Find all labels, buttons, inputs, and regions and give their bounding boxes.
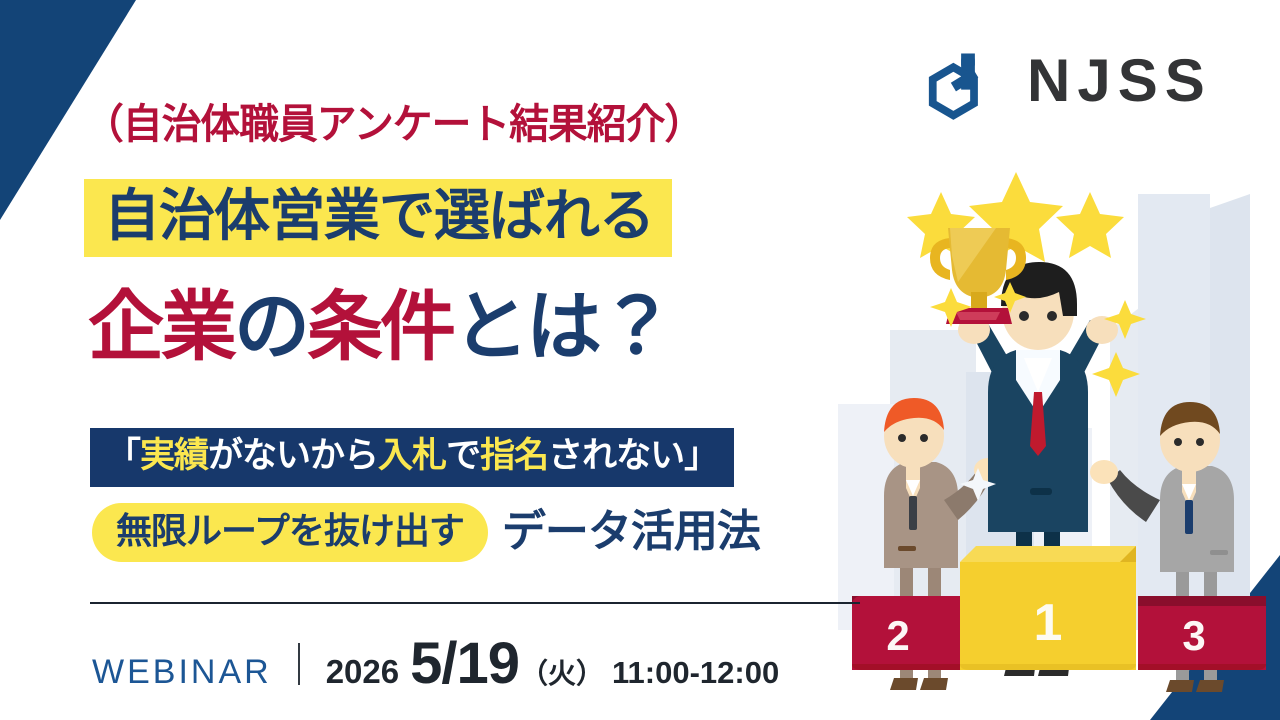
quote-seg-jisseki: 実績 [140, 436, 208, 475]
quote-seg-de: で [446, 436, 480, 475]
quote-open-bracket: 「 [106, 436, 140, 475]
footer-datetime: 2026 5/19 （火） 11:00-12:00 [326, 630, 780, 697]
njss-wordmark: NJSS [1027, 51, 1212, 111]
headline-seg-no: の [234, 285, 307, 370]
quote-seg-nyusatsu: 入札 [378, 436, 446, 475]
footer-divider-rule [90, 602, 860, 604]
footer-time: 11:00-12:00 [612, 655, 779, 691]
podium-block-3: 3 [1138, 596, 1266, 670]
webinar-banner: 2 3 1 [0, 0, 1280, 720]
subheadline-pill: 無限ループを抜け出す [92, 503, 488, 562]
njss-logo: NJSS [925, 38, 1212, 124]
footer-month-day: 5/19 [410, 630, 519, 697]
headline-seg-jouken: 条件 [307, 285, 453, 370]
footer-year: 2026 [326, 653, 399, 691]
njss-logo-mark-icon [925, 38, 1011, 124]
headline-main: 企業の条件とは？ [88, 286, 672, 370]
podium-label-3: 3 [1182, 612, 1205, 659]
webinar-label: WEBINAR [92, 655, 272, 689]
headline-seg-kigyou: 企業 [88, 285, 234, 370]
subheadline-tail: データ活用法 [502, 508, 760, 556]
copy-block: （自治体職員アンケート結果紹介） 自治体営業で選ばれる 企業の条件とは？ 「実績… [0, 0, 880, 720]
subheadline-row: 無限ループを抜け出す データ活用法 [92, 503, 760, 562]
podium-block-1: 1 [960, 546, 1136, 670]
headline-seg-towa: とは？ [453, 285, 672, 370]
podium-label-2: 2 [886, 612, 909, 659]
podium-label-1: 1 [1034, 594, 1063, 652]
quote-bar: 「実績がないから入札で指名されない」 [90, 428, 734, 487]
headline-highlight: 自治体営業で選ばれる [84, 179, 672, 257]
footer-schedule: WEBINAR 2026 5/19 （火） 11:00-12:00 [92, 630, 779, 697]
star-icon-right [1056, 192, 1124, 258]
kicker-text: （自治体職員アンケート結果紹介） [84, 90, 703, 150]
quote-seg-ganaikara: がないから [208, 436, 378, 475]
footer-day-of-week: （火） [520, 652, 604, 692]
quote-seg-shimei: 指名 [480, 436, 548, 475]
footer-vertical-divider [298, 643, 300, 685]
quote-close-bracket: 」 [684, 436, 718, 475]
quote-seg-sarenai: されない [548, 436, 684, 475]
